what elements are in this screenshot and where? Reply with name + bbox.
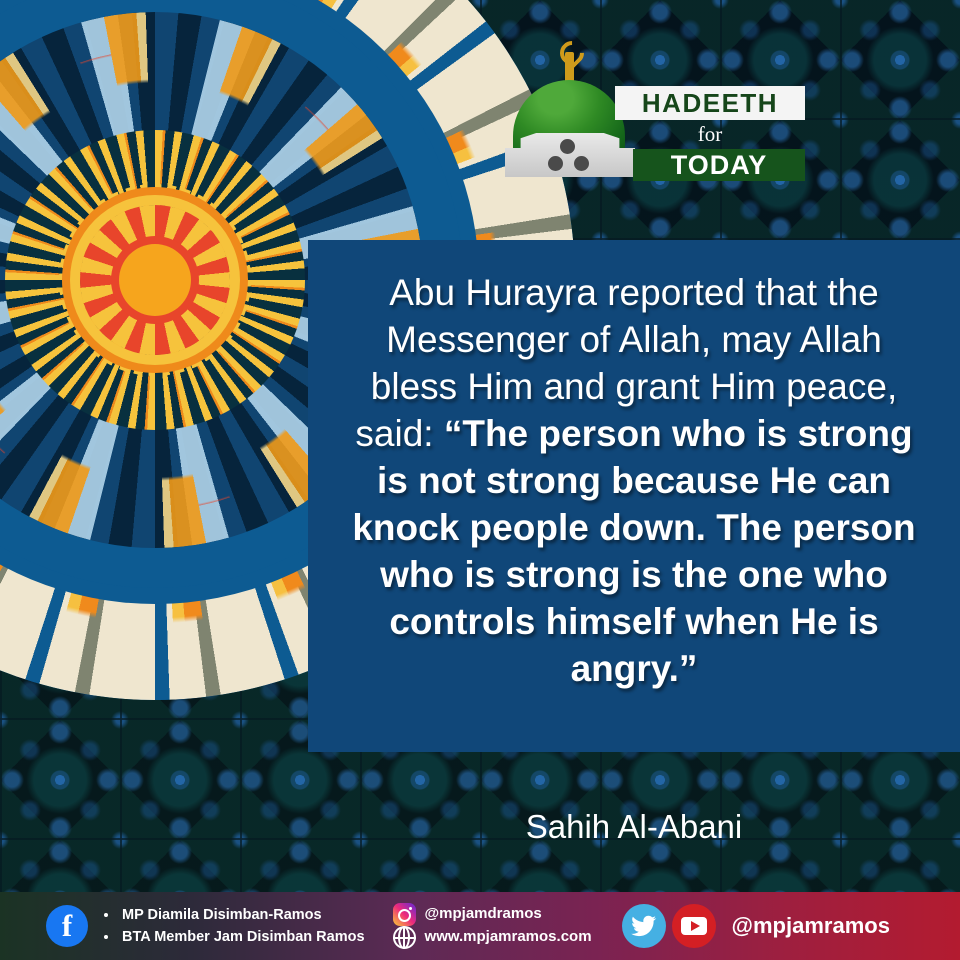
social-footer: MP Diamila Disimban-Ramos BTA Member Jam…	[0, 892, 960, 960]
base-dot	[548, 156, 563, 171]
facebook-icon[interactable]	[46, 905, 88, 947]
base-dot	[560, 139, 575, 154]
bullet-icon	[104, 913, 108, 917]
bullet-icon	[104, 935, 108, 939]
facebook-name-1: MP Diamila Disimban-Ramos	[122, 904, 322, 926]
quote-text: Abu Hurayra reported that the Messenger …	[338, 270, 930, 693]
website-url: www.mpjamramos.com	[425, 926, 592, 949]
instagram-website-block: @mpjamdramos www.mpjamramos.com	[393, 903, 592, 949]
quote-panel: Abu Hurayra reported that the Messenger …	[308, 240, 960, 752]
logo-hadeeth-text: HADEETH	[642, 90, 778, 116]
instagram-icon[interactable]	[393, 903, 416, 926]
base-dot	[574, 156, 589, 171]
social-handle: @mpjamramos	[732, 913, 890, 939]
logo-title-top: HADEETH	[615, 86, 805, 120]
logo-title-bottom: TODAY	[633, 149, 805, 181]
quote-saying: “The person who is strong is not strong …	[352, 413, 915, 689]
website-row[interactable]: www.mpjamramos.com	[393, 926, 592, 949]
hadeeth-for-today-logo: HADEETH for TODAY	[505, 52, 805, 177]
play-triangle-icon	[691, 921, 700, 931]
globe-icon[interactable]	[393, 926, 416, 949]
logo-today-text: TODAY	[671, 152, 768, 179]
facebook-names: MP Diamila Disimban-Ramos BTA Member Jam…	[104, 904, 365, 949]
list-item: BTA Member Jam Disimban Ramos	[104, 926, 365, 948]
facebook-name-2: BTA Member Jam Disimban Ramos	[122, 926, 365, 948]
hadeeth-poster: HADEETH for TODAY Abu Hurayra reported t…	[0, 0, 960, 960]
mandala-core-rosette	[80, 205, 230, 355]
twitter-icon[interactable]	[622, 904, 666, 948]
quote-source: Sahih Al-Abani	[308, 808, 960, 846]
mosque-base	[505, 133, 635, 177]
youtube-icon[interactable]	[672, 904, 716, 948]
instagram-row[interactable]: @mpjamdramos	[393, 903, 592, 926]
instagram-handle: @mpjamdramos	[425, 903, 542, 926]
logo-for-text: for	[655, 122, 765, 147]
list-item: MP Diamila Disimban-Ramos	[104, 904, 365, 926]
